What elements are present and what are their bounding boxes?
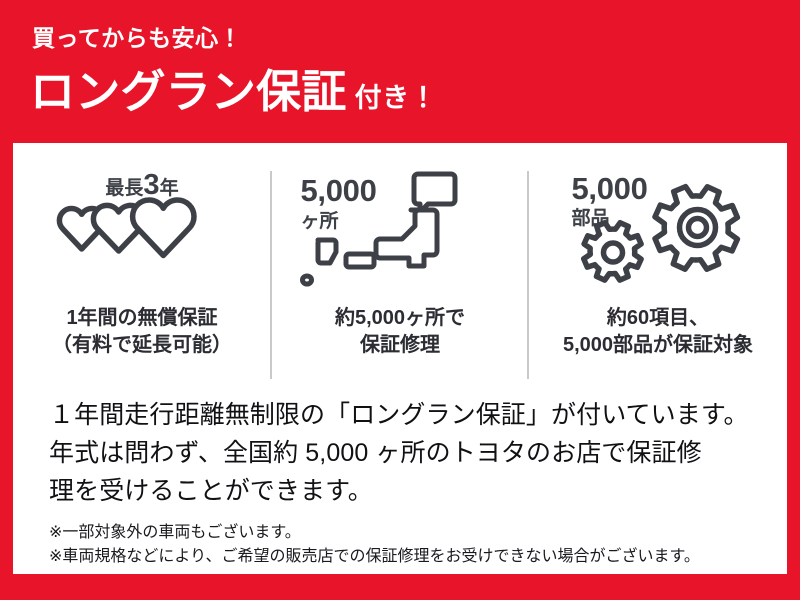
feature-column-warranty-period: 最長3年 1年間の無償保証 （有料で延長可能 (13, 161, 271, 383)
feature-caption: 約60項目、 5,000部品が保証対象 (563, 305, 753, 359)
content-panel: 最長3年 1年間の無償保証 （有料で延長可能 (13, 143, 787, 574)
caption-line-2: 保証修理 (335, 332, 465, 359)
fineprint: ※一部対象外の車両もございます。 ※車両規格などにより、ご希望の販売店での保証修… (49, 521, 775, 568)
fineprint-note-2: ※車両規格などにより、ご希望の販売店での保証修理をお受けできない場合がございます… (49, 545, 775, 569)
metric-unit: 年 (160, 178, 179, 199)
icon-area: 最長3年 (30, 161, 255, 301)
feature-column-service-locations: 5,000 ヶ所 (271, 161, 529, 383)
caption-line-1: 1年間の無償保証 (52, 305, 232, 332)
header-band: 買ってからも安心！ ロングラン保証付き！ (0, 0, 800, 143)
caption-line-1: 約60項目、 (563, 305, 753, 332)
caption-line-1: 約5,000ヶ所で (335, 305, 465, 332)
feature-caption: 約5,000ヶ所で 保証修理 (335, 305, 465, 359)
metric-max-years: 最長3年 (30, 171, 255, 200)
icon-area: 5,000 部品 (546, 161, 771, 301)
metric-number: 3 (143, 169, 159, 201)
fineprint-note-1: ※一部対象外の車両もございます。 (49, 521, 775, 545)
metric-unit: ヶ所 (301, 212, 377, 231)
headline-suffix: 付き！ (355, 83, 438, 113)
page-title: ロングラン保証付き！ (30, 69, 437, 114)
metric-prefix: 最長 (105, 178, 143, 199)
headline-main: ロングラン保証 (30, 66, 347, 117)
caption-line-2: （有料で延長可能） (52, 332, 232, 359)
feature-column-covered-parts: 5,000 部品 (529, 161, 787, 383)
feature-caption: 1年間の無償保証 （有料で延長可能） (52, 305, 232, 359)
body-copy: １年間走行距離無制限の「ロングラン保証」が付いています。 年式は問わず、全国約 … (49, 396, 763, 510)
feature-columns: 最長3年 1年間の無償保証 （有料で延長可能 (13, 161, 787, 383)
metric-locations: 5,000 ヶ所 (301, 175, 377, 231)
metric-number: 5,000 (301, 175, 377, 206)
metric-number: 5,000 (572, 173, 648, 204)
metric-parts: 5,000 部品 (572, 173, 648, 228)
body-line-1: １年間走行距離無制限の「ロングラン保証」が付いています。 (49, 396, 763, 434)
body-line-3: 理を受けることができます。 (49, 472, 763, 510)
header-kicker: 買ってからも安心！ (32, 27, 242, 50)
body-line-2: 年式は問わず、全国約 5,000 ヶ所のトヨタのお店で保証修 (49, 434, 763, 472)
warranty-advertisement: 買ってからも安心！ ロングラン保証付き！ 最長3年 (0, 0, 800, 600)
caption-line-2: 5,000部品が保証対象 (563, 332, 753, 359)
icon-area: 5,000 ヶ所 (288, 161, 513, 301)
metric-unit: 部品 (572, 209, 648, 228)
